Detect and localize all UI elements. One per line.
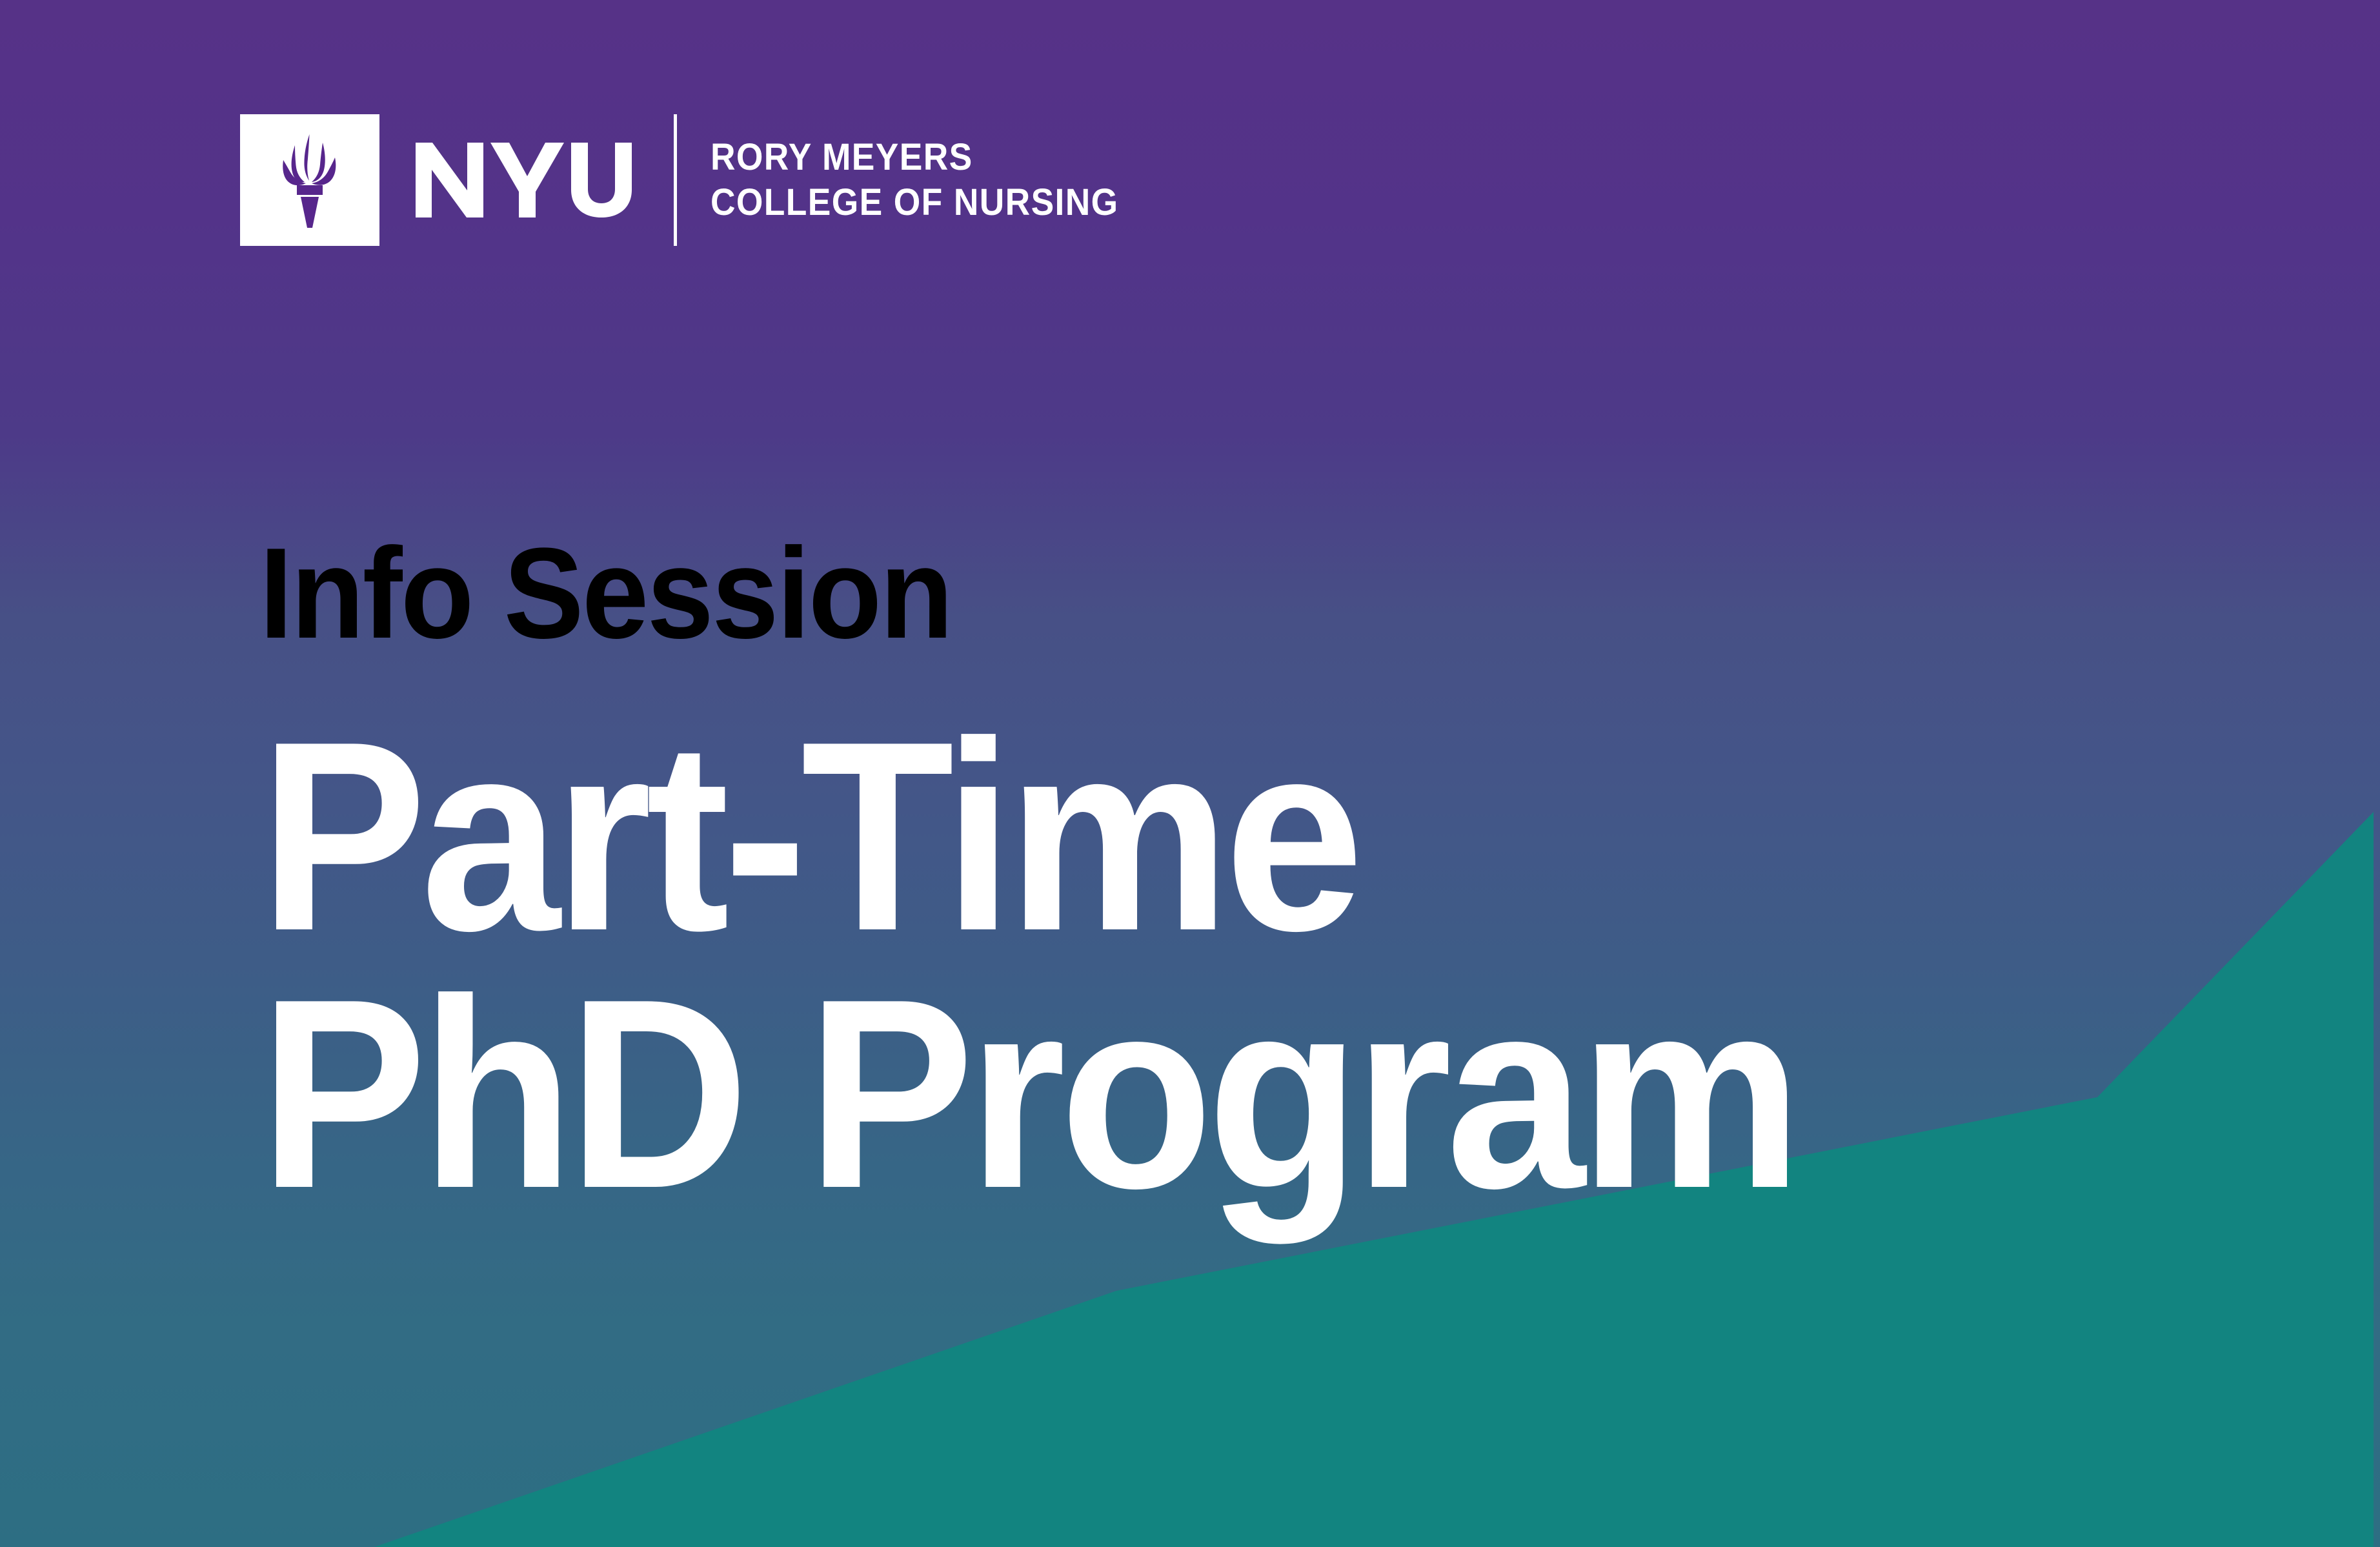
school-name-line-2: COLLEGE OF NURSING	[711, 180, 1119, 225]
school-name-line-1: RORY MEYERS	[711, 135, 1119, 180]
nyu-wordmark	[416, 114, 640, 246]
page-title-line-1: Part-Time	[259, 707, 1797, 965]
school-name-lockup: RORY MEYERS COLLEGE OF NURSING	[711, 114, 1155, 246]
nyu-torch-icon	[274, 132, 346, 228]
promo-graphic-canvas: RORY MEYERS COLLEGE OF NURSING Info Sess…	[0, 0, 2380, 1547]
nyu-logo-lockup[interactable]: RORY MEYERS COLLEGE OF NURSING	[240, 114, 1155, 246]
logo-divider	[674, 114, 677, 246]
page-title-line-2: PhD Program	[259, 965, 1797, 1222]
eyebrow-label: Info Session	[259, 529, 1797, 658]
page-title: Part-Time PhD Program	[259, 707, 1797, 1222]
torch-logo-box	[240, 114, 379, 246]
headline-block: Info Session Part-Time PhD Program	[259, 529, 1912, 1222]
